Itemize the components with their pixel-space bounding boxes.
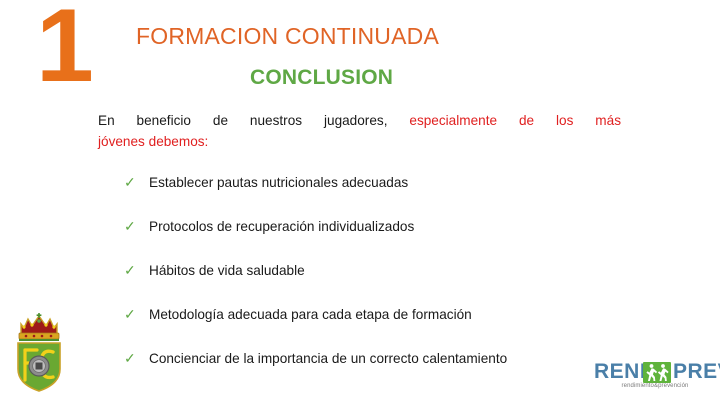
list-item-label: Protocolos de recuperación individualiza… xyxy=(149,216,414,238)
list-item-label: Establecer pautas nutricionales adecuada… xyxy=(149,172,408,194)
section-number: 1 xyxy=(36,0,92,98)
intro-line-2: jóvenes debemos: xyxy=(98,131,621,152)
conclusion-bullet-list: ✓ Establecer pautas nutricionales adecua… xyxy=(124,172,644,392)
checkmark-icon: ✓ xyxy=(124,347,136,369)
list-item: ✓ Protocolos de recuperación individuali… xyxy=(124,216,644,260)
checkmark-icon: ✓ xyxy=(124,215,136,237)
brand-word-right: PREV xyxy=(673,361,720,383)
runner-figures-icon xyxy=(643,362,671,383)
list-item-label: Metodología adecuada para cada etapa de … xyxy=(149,304,472,326)
list-item: ✓ Metodología adecuada para cada etapa d… xyxy=(124,304,644,348)
list-item: ✓ Establecer pautas nutricionales adecua… xyxy=(124,172,644,216)
intro-text-emphasis: especialmente de los más xyxy=(409,113,621,128)
intro-paragraph: En beneficio de nuestros jugadores, espe… xyxy=(98,110,621,152)
slide-subtitle: CONCLUSION xyxy=(250,66,393,90)
shield-icon xyxy=(18,343,60,391)
list-item: ✓ Hábitos de vida saludable xyxy=(124,260,644,304)
brand-tagline: rendimiento&prevención xyxy=(594,383,716,389)
club-crest-icon xyxy=(10,312,68,394)
brand-logo: REND PREV rendimiento&prevención xyxy=(594,360,716,394)
crown-icon xyxy=(19,313,59,341)
checkmark-icon: ✓ xyxy=(124,259,136,281)
slide-canvas: 1 FORMACION CONTINUADA CONCLUSION En ben… xyxy=(0,0,720,405)
list-item-label: Concienciar de la importancia de un corr… xyxy=(149,348,507,370)
runner-icon xyxy=(643,362,671,383)
intro-text-plain: En beneficio de nuestros jugadores, xyxy=(98,113,387,128)
checkmark-icon: ✓ xyxy=(124,171,136,193)
checkmark-icon: ✓ xyxy=(124,303,136,325)
intro-line-1: En beneficio de nuestros jugadores, espe… xyxy=(98,110,621,131)
list-item-label: Hábitos de vida saludable xyxy=(149,260,305,282)
page-title: FORMACION CONTINUADA xyxy=(136,23,439,50)
list-item: ✓ Concienciar de la importancia de un co… xyxy=(124,348,644,392)
